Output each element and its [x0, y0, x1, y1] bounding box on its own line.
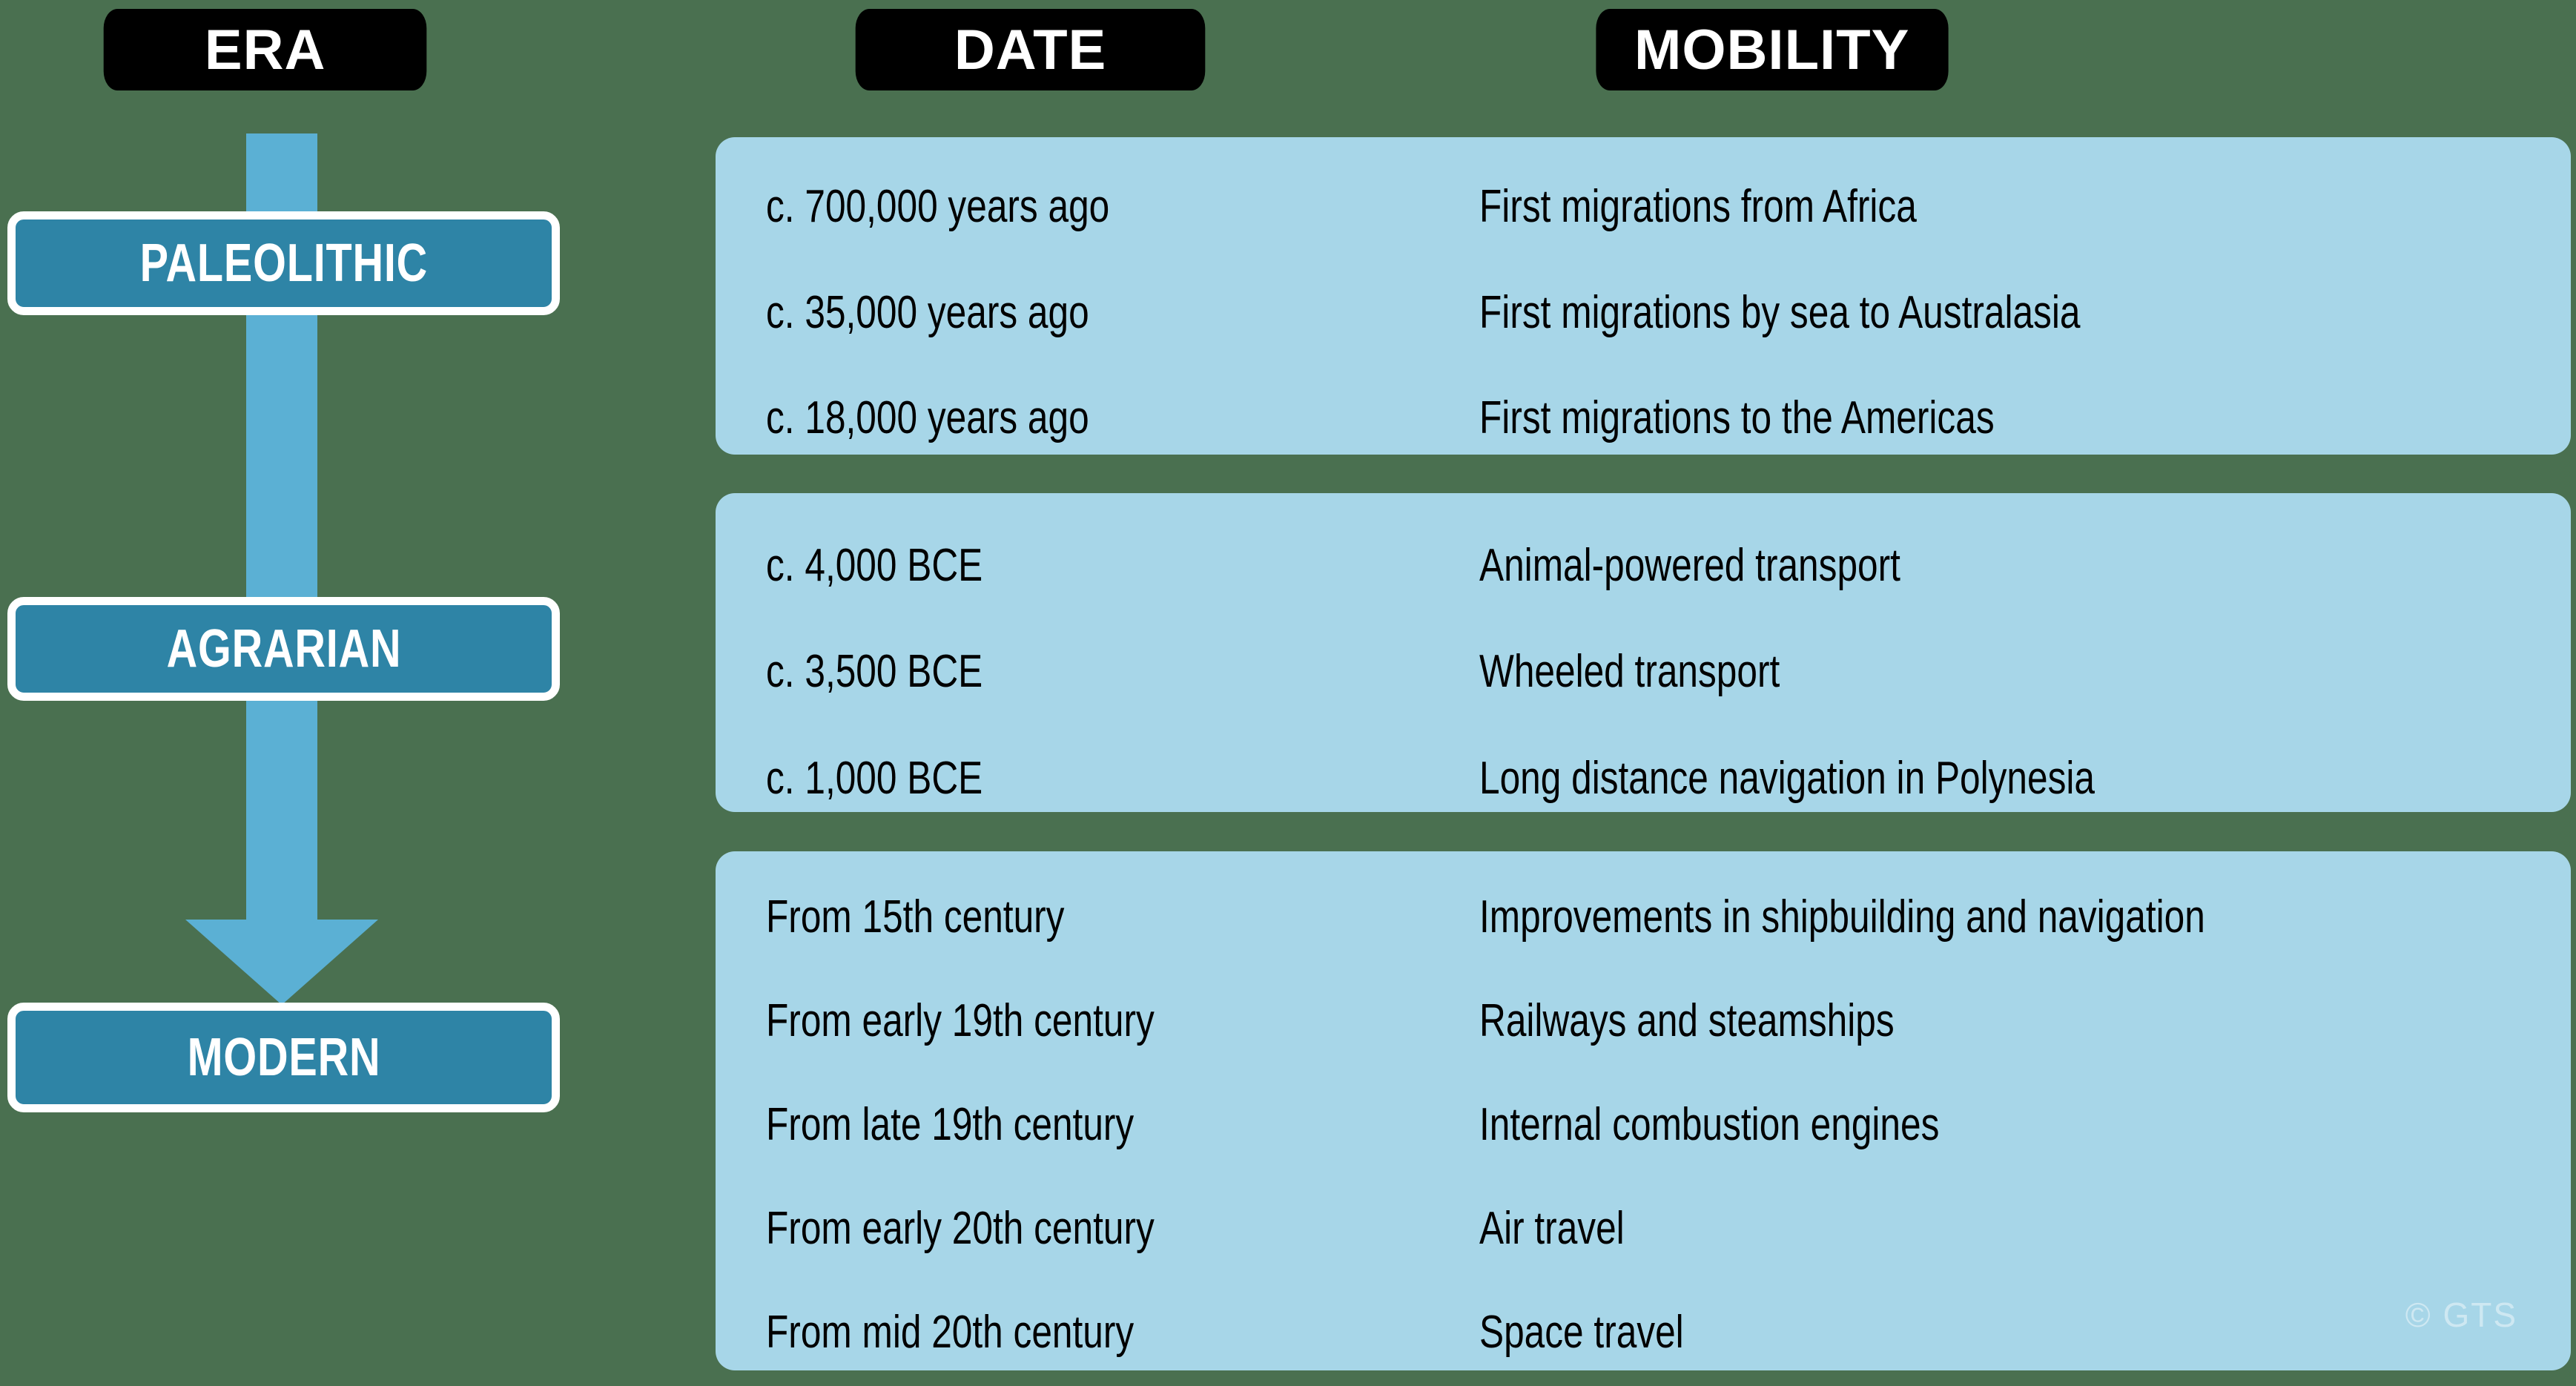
cell-mobility: First migrations to the Americas	[1479, 392, 2571, 444]
column-header-date-label: DATE	[954, 18, 1106, 82]
column-header-era: ERA	[104, 9, 427, 90]
column-header-mobility: MOBILITY	[1596, 9, 1948, 90]
column-header-date: DATE	[856, 9, 1206, 90]
cell-date: c. 4,000 BCE	[716, 539, 1479, 592]
cell-date: c. 35,000 years ago	[716, 286, 1479, 339]
table-row: From early 20th century Air travel	[716, 1176, 2571, 1280]
cell-date: c. 1,000 BCE	[716, 752, 1479, 805]
era-card-modern: From 15th century Improvements in shipbu…	[716, 851, 2571, 1370]
cell-mobility: Space travel	[1479, 1306, 2571, 1359]
table-row: c. 35,000 years ago First migrations by …	[716, 260, 2571, 366]
table-row: c. 1,000 BCE Long distance navigation in…	[716, 725, 2571, 831]
column-header-mobility-label: MOBILITY	[1634, 18, 1909, 82]
cell-mobility: Long distance navigation in Polynesia	[1479, 752, 2571, 805]
cell-mobility: First migrations by sea to Australasia	[1479, 286, 2571, 339]
cell-date: From early 20th century	[716, 1202, 1479, 1255]
cell-date: c. 18,000 years ago	[716, 392, 1479, 444]
table-row: c. 3,500 BCE Wheeled transport	[716, 618, 2571, 725]
cell-date: From late 19th century	[716, 1098, 1479, 1151]
era-pill-paleolithic: PALEOLITHIC	[7, 211, 560, 315]
cell-mobility: First migrations from Africa	[1479, 180, 2571, 233]
era-pill-agrarian: AGRARIAN	[7, 597, 560, 701]
table-row: From late 19th century Internal combusti…	[716, 1072, 2571, 1176]
cell-mobility: Air travel	[1479, 1202, 2571, 1255]
cell-mobility: Animal-powered transport	[1479, 539, 2571, 592]
cell-date: From early 19th century	[716, 994, 1479, 1047]
cell-mobility: Internal combustion engines	[1479, 1098, 2571, 1151]
era-pill-modern-label: MODERN	[187, 1027, 380, 1088]
table-row: From early 19th century Railways and ste…	[716, 968, 2571, 1072]
cell-date: c. 700,000 years ago	[716, 180, 1479, 233]
table-row: c. 700,000 years ago First migrations fr…	[716, 154, 2571, 260]
era-pill-agrarian-label: AGRARIAN	[166, 618, 401, 679]
cell-mobility: Railways and steamships	[1479, 994, 2571, 1047]
cell-mobility: Wheeled transport	[1479, 645, 2571, 698]
table-row: From 15th century Improvements in shipbu…	[716, 865, 2571, 968]
cell-date: From mid 20th century	[716, 1306, 1479, 1359]
column-header-era-label: ERA	[205, 18, 326, 82]
timeline-arrow-head-icon	[185, 920, 378, 1005]
table-row: c. 4,000 BCE Animal-powered transport	[716, 512, 2571, 618]
timeline-infographic: ERA DATE MOBILITY PALEOLITHIC AGRARIAN M…	[0, 0, 2576, 1386]
era-card-agrarian: c. 4,000 BCE Animal-powered transport c.…	[716, 493, 2571, 812]
table-row: c. 18,000 years ago First migrations to …	[716, 365, 2571, 471]
era-card-paleolithic: c. 700,000 years ago First migrations fr…	[716, 137, 2571, 455]
table-row: From mid 20th century Space travel	[716, 1280, 2571, 1384]
cell-date: From 15th century	[716, 891, 1479, 943]
era-pill-paleolithic-label: PALEOLITHIC	[139, 233, 428, 294]
cell-date: c. 3,500 BCE	[716, 645, 1479, 698]
cell-mobility: Improvements in shipbuilding and navigat…	[1479, 891, 2571, 943]
era-pill-modern: MODERN	[7, 1003, 560, 1112]
